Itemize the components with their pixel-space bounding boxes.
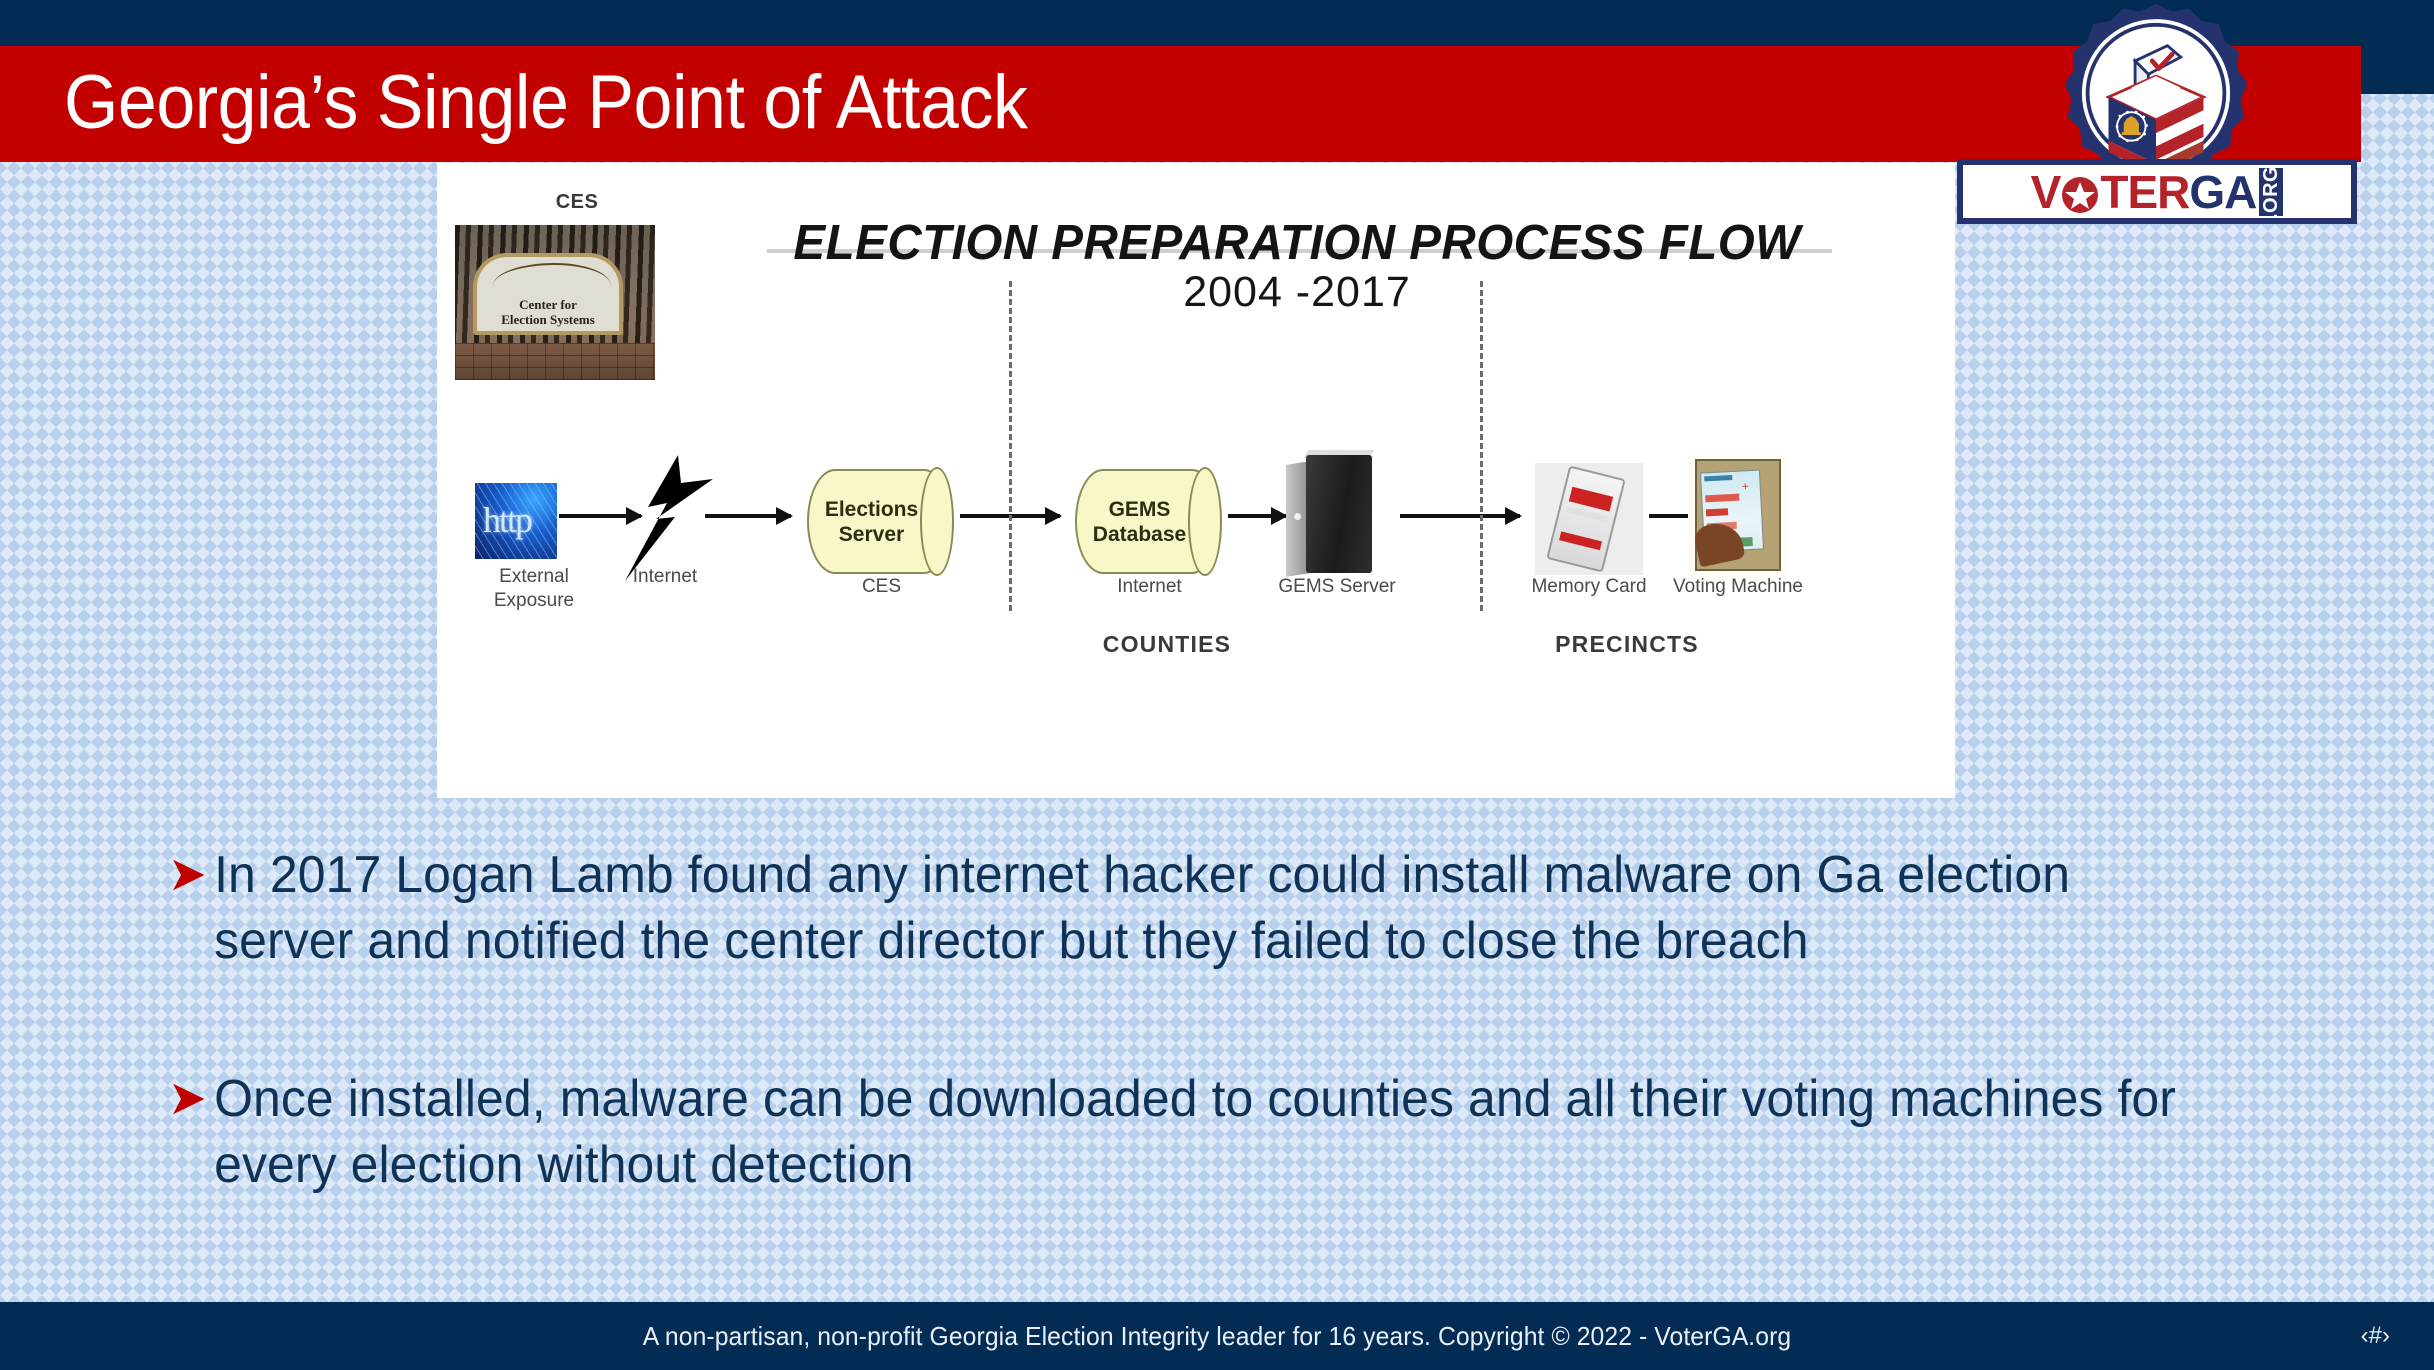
voting-machine-caption: Voting Machine xyxy=(1638,575,1838,599)
section-label-precincts: PRECINCTS xyxy=(1497,631,1757,658)
divider-counties-precincts xyxy=(1480,281,1483,611)
footer-bar: A non-partisan, non-profit Georgia Elect… xyxy=(0,1302,2434,1370)
diagram-title: ELECTION PREPARATION PROCESS FLOW xyxy=(754,215,1840,271)
voterga-logo[interactable]: VTERGA.ORG xyxy=(1957,2,2357,224)
wordmark-org: .ORG xyxy=(2259,168,2283,216)
election-process-flow-diagram: ELECTION PREPARATION PROCESS FLOW 2004 -… xyxy=(437,163,1955,798)
voting-machine-icon: + xyxy=(1688,455,1788,577)
bullet-marker-icon: ➤ xyxy=(168,842,207,908)
arrow-gems-server-to-memory-card xyxy=(1400,514,1520,518)
footer-text: A non-partisan, non-profit Georgia Elect… xyxy=(61,1302,2373,1370)
memory-card-icon xyxy=(1535,463,1643,575)
voterga-wordmark: VTERGA.ORG xyxy=(1957,159,2357,224)
internet-caption-1: Internet xyxy=(565,565,765,589)
ces-sign-line2: Election Systems xyxy=(501,312,595,327)
external-exposure-icon: http xyxy=(475,483,557,559)
bullet-item: ➤ In 2017 Logan Lamb found any internet … xyxy=(168,842,2213,974)
http-text: http xyxy=(483,499,531,541)
gems-db-line2: Database xyxy=(1093,522,1186,547)
bullet-text: In 2017 Logan Lamb found any internet ha… xyxy=(214,846,2070,970)
slide-number: ‹#› xyxy=(2361,1302,2390,1370)
elections-server-cylinder: Elections Server xyxy=(807,469,952,574)
elections-server-line2: Server xyxy=(839,522,904,547)
bullet-text: Once installed, malware can be downloade… xyxy=(214,1070,2176,1194)
slide-canvas: Georgia’s Single Point of Attack xyxy=(0,0,2434,1370)
page-title: Georgia’s Single Point of Attack xyxy=(64,50,1027,160)
bullet-marker-icon: ➤ xyxy=(168,1066,207,1132)
arrow-gems-db-to-gems-server xyxy=(1228,514,1286,518)
elections-server-line1: Elections xyxy=(825,497,918,522)
wordmark-ga: GA xyxy=(2189,169,2256,215)
lightning-bolt-internet-icon xyxy=(615,453,735,583)
gems-server-caption: GEMS Server xyxy=(1237,575,1437,599)
ces-label: CES xyxy=(477,191,677,214)
body-content: ➤ In 2017 Logan Lamb found any internet … xyxy=(168,842,2298,1198)
gems-server-tower-icon xyxy=(1282,455,1390,580)
wordmark-voter: VTER xyxy=(2031,169,2190,215)
ces-building-sign-photo: Center for Election Systems xyxy=(455,225,655,380)
gems-database-caption: Internet xyxy=(1077,575,1222,599)
gems-db-line1: GEMS xyxy=(1109,497,1171,522)
arrow-internet-to-elections-server xyxy=(705,514,791,518)
divider-ces-counties xyxy=(1009,281,1012,611)
ces-sign-line1: Center for xyxy=(519,297,577,312)
section-label-counties: COUNTIES xyxy=(1037,631,1297,658)
bullet-item: ➤ Once installed, malware can be downloa… xyxy=(168,1066,2213,1198)
diagram-subtitle: 2004 -2017 xyxy=(737,268,1857,317)
elections-server-caption: CES xyxy=(809,575,954,599)
gems-database-cylinder: GEMS Database xyxy=(1075,469,1220,574)
top-navy-right-tab xyxy=(2361,0,2434,94)
star-in-o-icon xyxy=(2060,175,2100,215)
